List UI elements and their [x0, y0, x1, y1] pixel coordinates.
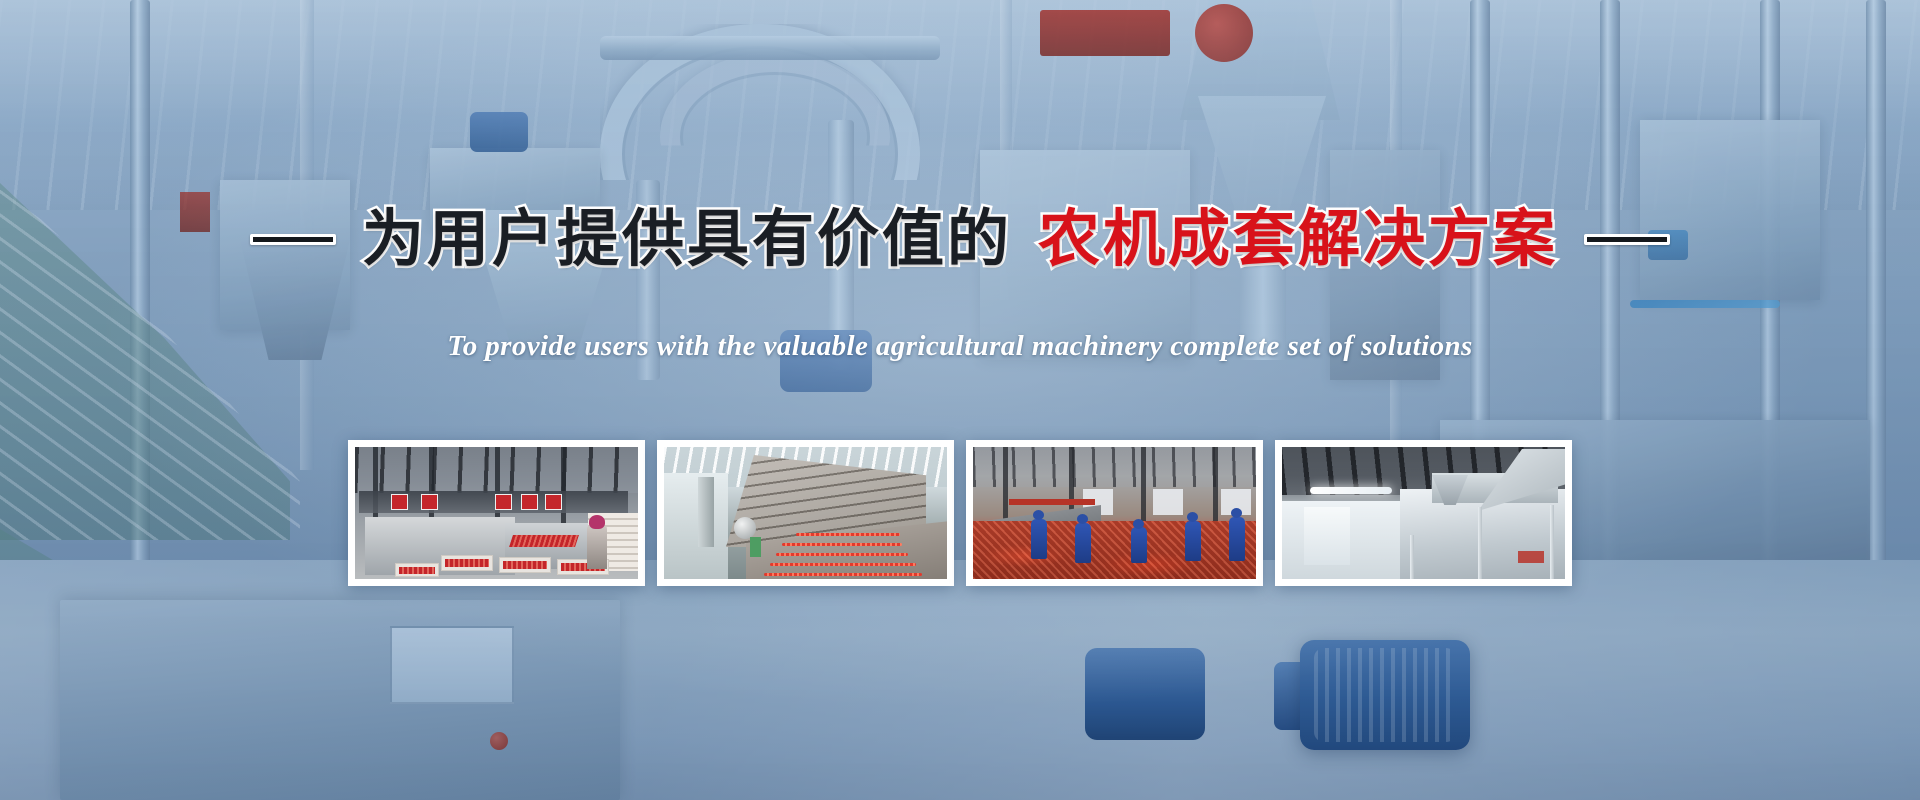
headline-primary-text: 为用户提供具有价值的 — [362, 208, 1012, 270]
hero-banner: 为用户提供具有价值的 农机成套解决方案 To provide users wit… — [0, 0, 1920, 800]
t3-worker-3 — [1131, 527, 1147, 563]
t2-side-wall — [664, 473, 728, 579]
thumbnail-4-image — [1282, 447, 1565, 579]
t1-banner-char-4 — [521, 494, 538, 510]
thumbnail-3[interactable] — [966, 440, 1263, 586]
t4-red-label — [1518, 551, 1544, 563]
thumbnail-strip — [348, 440, 1572, 586]
thumbnail-1-image — [355, 447, 638, 579]
t3-worker-5 — [1229, 517, 1245, 561]
t2-berry-row-1 — [782, 543, 902, 546]
t3-worker-4-head — [1187, 512, 1198, 522]
t1-worker-body — [587, 525, 607, 569]
t4-doorway — [1304, 507, 1350, 565]
t3-window-b — [1153, 489, 1183, 515]
subtitle: To provide users with the valuable agric… — [0, 330, 1920, 363]
thumbnail-3-image — [973, 447, 1256, 579]
t2-drive-drum — [734, 517, 756, 539]
t1-banner-char-5 — [545, 494, 562, 510]
background-photo — [0, 0, 1920, 800]
t3-red-machine-bar — [1009, 499, 1095, 505]
t1-banner-char-3 — [495, 494, 512, 510]
t2-berry-row-5 — [796, 533, 900, 536]
t4-ceiling-lamp — [1310, 487, 1392, 494]
t2-berry-row-4 — [764, 573, 922, 576]
t4-support-leg-c — [1550, 505, 1554, 579]
t1-tray-berries-d — [399, 567, 435, 574]
t1-column-c — [495, 447, 500, 525]
t3-worker-3-head — [1133, 519, 1144, 529]
t1-column-b — [429, 447, 434, 525]
t1-worker-head — [589, 515, 605, 529]
t1-column-a — [373, 447, 378, 525]
t1-column-d — [561, 447, 566, 525]
t3-worker-1-head — [1033, 510, 1044, 520]
t3-worker-1 — [1031, 519, 1047, 559]
t3-worker-2-head — [1077, 514, 1088, 524]
thumbnail-2[interactable] — [657, 440, 954, 586]
t4-support-leg-a — [1410, 535, 1414, 579]
t4-support-leg-b — [1478, 507, 1482, 579]
t1-tray-berries-b — [503, 561, 547, 569]
t3-worker-5-head — [1231, 508, 1242, 518]
t3-worker-2 — [1075, 523, 1091, 563]
t2-duct — [698, 477, 714, 547]
t3-produce-texture — [973, 521, 1256, 579]
headline-highlight-text: 农机成套解决方案 — [1038, 208, 1558, 270]
t2-berry-row-3 — [770, 563, 916, 566]
headline-rule-left — [250, 234, 336, 245]
t2-berry-row-2 — [776, 553, 908, 556]
headline: 为用户提供具有价值的 农机成套解决方案 — [0, 208, 1920, 270]
t1-banner-char-2 — [421, 494, 438, 510]
t1-berry-belt — [509, 535, 579, 547]
background-center-glow — [0, 0, 1920, 800]
thumbnail-2-image — [664, 447, 947, 579]
t3-worker-4 — [1185, 521, 1201, 561]
t2-control-box — [750, 537, 761, 557]
t1-tray-berries-a — [445, 559, 489, 567]
thumbnail-1[interactable] — [348, 440, 645, 586]
thumbnail-4[interactable] — [1275, 440, 1572, 586]
t1-banner-char-1 — [391, 494, 408, 510]
headline-rule-right — [1584, 234, 1670, 245]
